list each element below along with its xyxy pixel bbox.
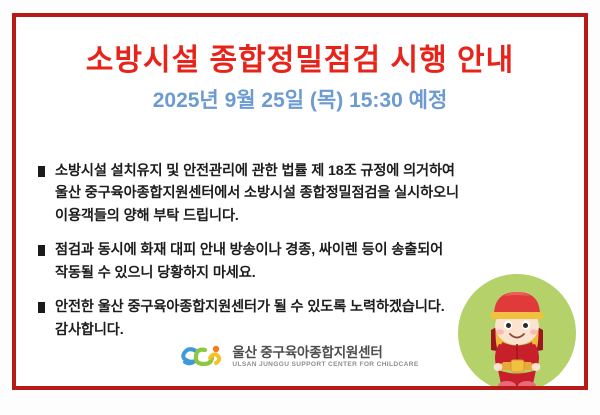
footer-branding: 울산 중구육아종합지원센터 ULSAN JUNGGU SUPPORT CENTE… — [16, 345, 584, 370]
notice-line: 이용객들의 양해 부탁 드립니다. — [55, 205, 570, 227]
childcare-center-logo-icon — [181, 345, 223, 369]
notice-line: 점검과 동시에 화재 대피 안내 방송이나 경종, 싸이렌 등이 송출되어 — [55, 239, 570, 261]
square-bullet-icon — [38, 245, 45, 256]
page-title: 소방시설 종합정밀점검 시행 안내 — [16, 17, 584, 77]
notice-line: 울산 중구육아종합지원센터에서 소방시설 종합정밀점검을 실시하오니 — [55, 182, 570, 204]
notice-line: 소방시설 설치유지 및 안전관리에 관한 법률 제 18조 규정에 의거하여 — [55, 160, 570, 182]
square-bullet-icon — [38, 166, 45, 177]
firefighter-mascot-icon — [458, 274, 576, 390]
notice-text-block: 소방시설 설치유지 및 안전관리에 관한 법률 제 18조 규정에 의거하여 울… — [55, 160, 570, 227]
list-item: 소방시설 설치유지 및 안전관리에 관한 법률 제 18조 규정에 의거하여 울… — [38, 160, 570, 227]
notice-poster: 소방시설 종합정밀점검 시행 안내 2025년 9월 25일 (목) 15:30… — [12, 13, 588, 390]
organization-name: 울산 중구육아종합지원센터 — [232, 345, 418, 361]
firefighter-mascot-badge — [458, 274, 576, 390]
footer-text-group: 울산 중구육아종합지원센터 ULSAN JUNGGU SUPPORT CENTE… — [232, 345, 418, 370]
square-bullet-icon — [38, 302, 45, 313]
poster-schedule-date: 2025년 9월 25일 (목) 15:30 예정 — [16, 77, 584, 112]
poster-header: 소방시설 종합정밀점검 시행 안내 2025년 9월 25일 (목) 15:30… — [16, 17, 584, 112]
organization-name-english: ULSAN JUNGGU SUPPORT CENTER FOR CHILDCAR… — [232, 360, 418, 370]
